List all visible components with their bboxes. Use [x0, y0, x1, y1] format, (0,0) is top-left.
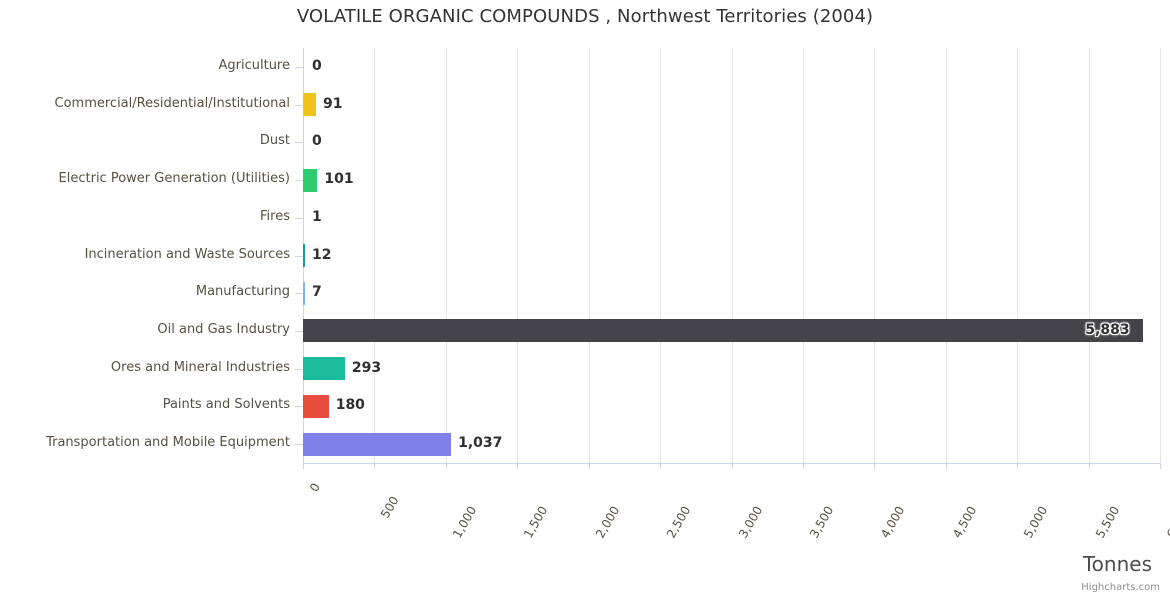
gridline: [803, 48, 804, 463]
bar-value-label: 0: [312, 58, 322, 74]
bar[interactable]: [303, 282, 305, 305]
y-axis-tick: [295, 180, 303, 181]
x-axis-tick: [303, 463, 304, 469]
category-label: Electric Power Generation (Utilities): [0, 171, 290, 186]
x-axis-label-wrap: 3,000: [753, 474, 782, 511]
category-label: Fires: [0, 209, 290, 224]
category-label: Dust: [0, 133, 290, 148]
x-axis-tick-label: 500: [378, 494, 402, 521]
x-axis-tick: [1089, 463, 1090, 469]
gridline: [589, 48, 590, 463]
x-axis-tick: [803, 463, 804, 469]
x-axis-tick: [660, 463, 661, 469]
gridline: [1160, 48, 1161, 463]
x-axis-tick-label: 2,000: [593, 504, 622, 541]
y-axis-tick: [295, 105, 303, 106]
x-axis-tick: [732, 463, 733, 469]
highcharts-credit: Highcharts.com: [1081, 582, 1160, 593]
chart-container: VOLATILE ORGANIC COMPOUNDS , Northwest T…: [0, 0, 1170, 600]
x-axis-label-wrap: 2,000: [610, 474, 639, 511]
x-axis-label-wrap: 4,000: [895, 474, 924, 511]
x-axis-tick-label: 4,000: [878, 504, 907, 541]
chart-title: VOLATILE ORGANIC COMPOUNDS , Northwest T…: [0, 6, 1170, 27]
x-axis-tick: [1160, 463, 1161, 469]
plot-area: 091010111275,8832931801,037: [303, 48, 1160, 463]
x-axis-tick: [517, 463, 518, 469]
x-axis-tick: [946, 463, 947, 469]
gridline: [1017, 48, 1018, 463]
x-axis-label-wrap: 5,000: [1038, 474, 1067, 511]
gridline: [946, 48, 947, 463]
bar-value-label: 101: [324, 171, 353, 187]
bar[interactable]: [303, 319, 1143, 342]
gridline: [874, 48, 875, 463]
category-label: Transportation and Mobile Equipment: [0, 435, 290, 450]
bar[interactable]: [303, 169, 317, 192]
x-axis-label-wrap: 0: [311, 474, 327, 488]
bar[interactable]: [303, 433, 451, 456]
x-axis-tick-label: 3,000: [736, 504, 765, 541]
x-axis-label-wrap: 4,500: [967, 474, 996, 511]
x-axis-label-wrap: 3,500: [824, 474, 853, 511]
bar-value-label: 180: [336, 397, 365, 413]
bar-value-label: 12: [312, 247, 331, 263]
x-axis-tick-label: 1,500: [521, 504, 550, 541]
x-axis-tick-label: 5,500: [1093, 504, 1122, 541]
bar[interactable]: [303, 244, 305, 267]
category-label: Oil and Gas Industry: [0, 322, 290, 337]
x-axis-tick-label: 0: [307, 481, 323, 495]
category-label: Manufacturing: [0, 284, 290, 299]
x-axis-label-wrap: 2,500: [681, 474, 710, 511]
category-label: Paints and Solvents: [0, 397, 290, 412]
bar-value-label: 293: [352, 360, 381, 376]
x-axis-tick-label: 5,000: [1021, 504, 1050, 541]
bar-value-label: 5,883: [1085, 322, 1129, 338]
category-label: Incineration and Waste Sources: [0, 247, 290, 262]
bar-value-label: 0: [312, 133, 322, 149]
category-label: Ores and Mineral Industries: [0, 360, 290, 375]
x-axis-tick-label: 1,000: [450, 504, 479, 541]
y-axis-tick: [295, 406, 303, 407]
gridline: [374, 48, 375, 463]
x-axis-tick-label: 4,500: [950, 504, 979, 541]
bar-value-label: 91: [323, 96, 342, 112]
y-axis-tick: [295, 218, 303, 219]
y-axis-tick: [295, 142, 303, 143]
y-axis-tick: [295, 331, 303, 332]
bar-value-label: 7: [312, 284, 322, 300]
bar-value-label: 1: [312, 209, 322, 225]
gridline: [446, 48, 447, 463]
y-axis-tick: [295, 444, 303, 445]
x-axis-tick-label: 3,500: [807, 504, 836, 541]
x-axis-tick-label: 2,500: [664, 504, 693, 541]
bar[interactable]: [303, 395, 329, 418]
x-axis-tick: [446, 463, 447, 469]
y-axis-tick: [295, 256, 303, 257]
y-axis-tick: [295, 369, 303, 370]
x-axis-tick: [874, 463, 875, 469]
x-axis-title: Tonnes: [1083, 552, 1152, 576]
y-axis-tick: [295, 293, 303, 294]
bar[interactable]: [303, 93, 316, 116]
bar[interactable]: [303, 357, 345, 380]
x-axis-label-wrap: 5,500: [1110, 474, 1139, 511]
x-axis-tick: [589, 463, 590, 469]
x-axis-label-wrap: 1,500: [538, 474, 567, 511]
x-axis-label-wrap: 500: [389, 474, 413, 501]
x-axis-tick: [1017, 463, 1018, 469]
category-label: Agriculture: [0, 58, 290, 73]
category-label: Commercial/Residential/Institutional: [0, 96, 290, 111]
x-axis-tick: [374, 463, 375, 469]
gridline: [1089, 48, 1090, 463]
x-axis-label-wrap: 1,000: [467, 474, 496, 511]
bar-value-label: 1,037: [458, 435, 502, 451]
gridline: [732, 48, 733, 463]
y-axis-tick: [295, 67, 303, 68]
x-axis-tick-label: 6,000: [1164, 504, 1170, 541]
gridline: [660, 48, 661, 463]
gridline: [517, 48, 518, 463]
